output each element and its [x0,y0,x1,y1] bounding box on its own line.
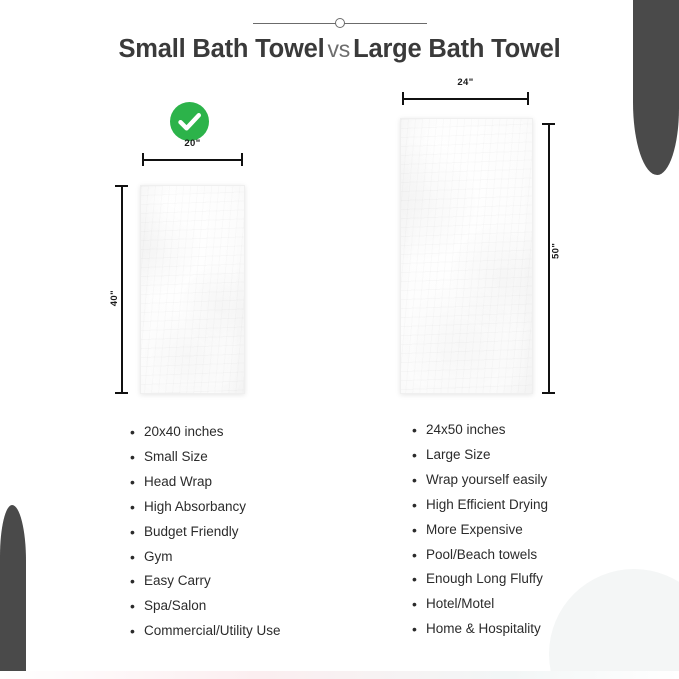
list-item: Head Wrap [130,470,281,495]
list-item: Large Size [412,443,548,468]
list-item: Hotel/Motel [412,592,548,617]
large-towel-feature-list: 24x50 inches Large Size Wrap yourself ea… [412,418,548,642]
list-item: High Efficient Drying [412,493,548,518]
large-towel-image [400,118,533,394]
check-circle-icon [170,102,209,141]
list-item: High Absorbancy [130,495,281,520]
left-product-column: 20" 40" 20x40 inches Small Size Head Wra… [0,0,340,679]
list-item: 20x40 inches [130,420,281,445]
list-item: Enough Long Fluffy [412,567,548,592]
dimension-cap-bottom [115,392,128,394]
dimension-bar [142,159,243,161]
list-item: 24x50 inches [412,418,548,443]
dimension-cap-bottom [542,392,555,394]
small-towel-height-dimension: 40" [115,185,128,394]
list-item: Gym [130,545,281,570]
small-towel-image [140,185,245,394]
large-towel-width-dimension: 24" [402,92,529,105]
dimension-cap-right [241,153,243,166]
list-item: Spa/Salon [130,594,281,619]
large-towel-height-dimension: 50" [542,123,555,394]
dimension-bar [548,123,550,394]
small-towel-width-label: 20" [142,138,243,149]
list-item: Home & Hospitality [412,617,548,642]
large-towel-height-label: 50" [551,242,562,258]
small-towel-width-dimension: 20" [142,153,243,166]
small-towel-height-label: 40" [109,290,120,306]
infographic-canvas: Small Bath TowelvsLarge Bath Towel 20" 4… [0,0,679,679]
list-item: Wrap yourself easily [412,468,548,493]
dimension-cap-right [527,92,529,105]
large-towel-width-label: 24" [402,77,529,88]
dimension-bar [402,98,529,100]
dimension-bar [121,185,123,394]
list-item: Budget Friendly [130,520,281,545]
list-item: Commercial/Utility Use [130,619,281,644]
list-item: More Expensive [412,518,548,543]
small-towel-feature-list: 20x40 inches Small Size Head Wrap High A… [130,420,281,644]
list-item: Small Size [130,445,281,470]
list-item: Pool/Beach towels [412,543,548,568]
list-item: Easy Carry [130,569,281,594]
